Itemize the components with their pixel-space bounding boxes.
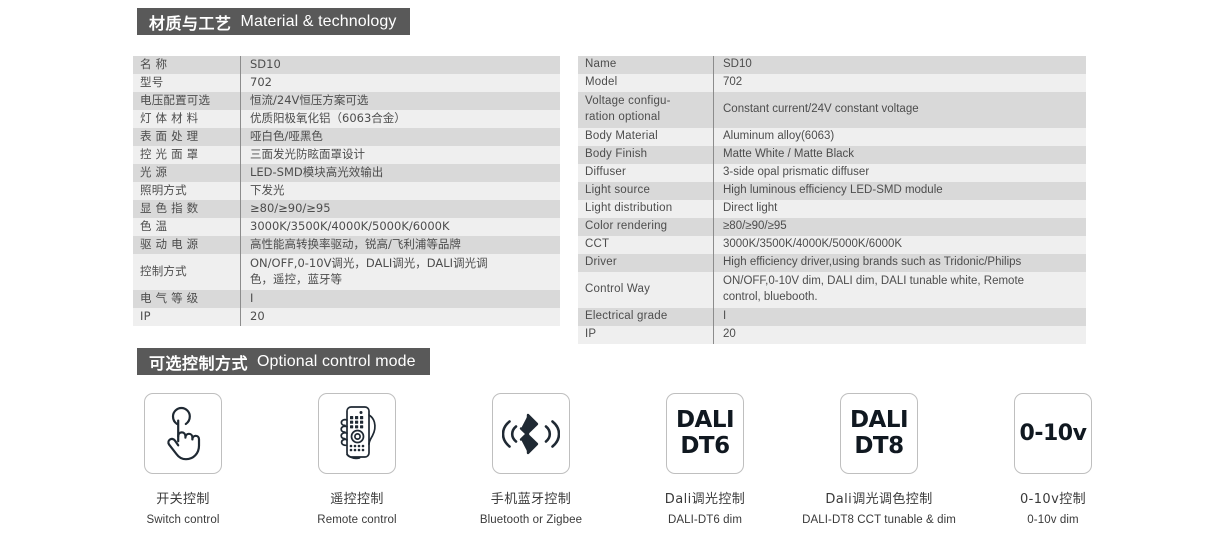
table-row: Model702: [578, 74, 1086, 92]
spec-value: 恒流/24V恒压方案可选: [241, 92, 561, 110]
spec-key: Control Way: [578, 272, 714, 308]
spec-value: 3000K/3500K/4000K/5000K/6000K: [241, 218, 561, 236]
spec-value: ≥80/≥90/≥95: [241, 200, 561, 218]
control-mode-card[interactable]: 手机蓝牙控制Bluetooth or Zigbee: [481, 393, 581, 529]
control-mode-label-en: DALI-DT6 dim: [605, 512, 805, 530]
table-row: 色 温3000K/3500K/4000K/5000K/6000K: [133, 218, 560, 236]
control-mode-label-cn: 开关控制: [83, 490, 283, 510]
spec-key: 显 色 指 数: [133, 200, 241, 218]
spec-key: 照明方式: [133, 182, 241, 200]
table-row: 控制方式ON/OFF,0-10V调光，DALI调光，DALI调光调 色，遥控，蓝…: [133, 254, 560, 290]
table-row: 照明方式下发光: [133, 182, 560, 200]
control-mode-card[interactable]: 0-10v0-10v控制0-10v dim: [1003, 393, 1103, 529]
spec-key: 控 光 面 罩: [133, 146, 241, 164]
table-row: DriverHigh efficiency driver,using brand…: [578, 254, 1086, 272]
spec-key: Voltage configu- ration optional: [578, 92, 714, 128]
table-row: Voltage configu- ration optionalConstant…: [578, 92, 1086, 128]
control-mode-label-en: Switch control: [83, 512, 283, 530]
spec-key: IP: [578, 326, 714, 344]
spec-value: Constant current/24V constant voltage: [714, 92, 1087, 128]
spec-key: 灯 体 材 料: [133, 110, 241, 128]
control-mode-label-cn: 0-10v控制: [953, 490, 1153, 510]
spec-value: Direct light: [714, 200, 1087, 218]
spec-value: High luminous efficiency LED-SMD module: [714, 182, 1087, 200]
table-row: IP20: [133, 308, 560, 326]
spec-key: Light source: [578, 182, 714, 200]
control-mode-label-cn: Dali调光控制: [605, 490, 805, 510]
table-row: 灯 体 材 料优质阳极氧化铝（6063合金）: [133, 110, 560, 128]
spec-key: Light distribution: [578, 200, 714, 218]
spec-value: SD10: [241, 56, 561, 74]
section-header-control-en: Optional control mode: [257, 353, 416, 371]
datasheet-page: 材质与工艺 Material & technology 名 称SD10型号702…: [0, 0, 1214, 557]
control-mode-caption: 开关控制Switch control: [83, 490, 283, 529]
table-row: 驱 动 电 源高性能高转换率驱动，锐高/飞利浦等品牌: [133, 236, 560, 254]
table-row: Light sourceHigh luminous efficiency LED…: [578, 182, 1086, 200]
table-row: 显 色 指 数≥80/≥90/≥95: [133, 200, 560, 218]
spec-key: IP: [133, 308, 241, 326]
spec-key: 电压配置可选: [133, 92, 241, 110]
control-mode-label-en: Bluetooth or Zigbee: [431, 512, 631, 530]
control-mode-label-cn: 手机蓝牙控制: [431, 490, 631, 510]
spec-value: ON/OFF,0-10V dim, DALI dim, DALI tunable…: [714, 272, 1087, 308]
zero-to-ten-volt-icon: 0-10v: [1014, 393, 1092, 474]
table-row: 电压配置可选恒流/24V恒压方案可选: [133, 92, 560, 110]
spec-value: ≥80/≥90/≥95: [714, 218, 1087, 236]
table-row: 控 光 面 罩三面发光防眩面罩设计: [133, 146, 560, 164]
spec-key: 名 称: [133, 56, 241, 74]
spec-value: Aluminum alloy(6063): [714, 128, 1087, 146]
spec-key: Driver: [578, 254, 714, 272]
spec-key: Color rendering: [578, 218, 714, 236]
control-mode-card[interactable]: 开关控制Switch control: [133, 393, 233, 529]
spec-table-chinese: 名 称SD10型号702电压配置可选恒流/24V恒压方案可选灯 体 材 料优质阳…: [133, 56, 560, 326]
control-mode-label-en: DALI-DT8 CCT tunable & dim: [779, 512, 979, 530]
table-row: 电 气 等 级I: [133, 290, 560, 308]
spec-value: ON/OFF,0-10V调光，DALI调光，DALI调光调 色，遥控，蓝牙等: [241, 254, 561, 290]
spec-value: High efficiency driver,using brands such…: [714, 254, 1087, 272]
control-mode-caption: 0-10v控制0-10v dim: [953, 490, 1153, 529]
spec-value: Matte White / Matte Black: [714, 146, 1087, 164]
table-row: Body MaterialAluminum alloy(6063): [578, 128, 1086, 146]
spec-key: Model: [578, 74, 714, 92]
bluetooth-signal-icon: [492, 393, 570, 474]
spec-key: 驱 动 电 源: [133, 236, 241, 254]
spec-key: 光 源: [133, 164, 241, 182]
spec-key: 型号: [133, 74, 241, 92]
spec-key: Body Material: [578, 128, 714, 146]
spec-value: I: [714, 308, 1087, 326]
control-mode-caption: Dali调光控制DALI-DT6 dim: [605, 490, 805, 529]
table-row: 型号702: [133, 74, 560, 92]
spec-value: SD10: [714, 56, 1087, 74]
spec-value: I: [241, 290, 561, 308]
table-row: IP20: [578, 326, 1086, 344]
control-mode-label-cn: 遥控控制: [257, 490, 457, 510]
spec-key: Diffuser: [578, 164, 714, 182]
section-header-material-en: Material & technology: [241, 13, 397, 31]
hand-touch-icon: [144, 393, 222, 474]
spec-key: 色 温: [133, 218, 241, 236]
spec-key: CCT: [578, 236, 714, 254]
table-row: 表 面 处 理哑白色/哑黑色: [133, 128, 560, 146]
control-mode-card[interactable]: DALIDT6Dali调光控制DALI-DT6 dim: [655, 393, 755, 529]
spec-key: 表 面 处 理: [133, 128, 241, 146]
table-row: Color rendering≥80/≥90/≥95: [578, 218, 1086, 236]
spec-key: 电 气 等 级: [133, 290, 241, 308]
control-mode-caption: 遥控控制Remote control: [257, 490, 457, 529]
control-mode-label-en: Remote control: [257, 512, 457, 530]
dali-dt8-icon: DALIDT8: [840, 393, 918, 474]
spec-value: 高性能高转换率驱动，锐高/飞利浦等品牌: [241, 236, 561, 254]
table-row: Diffuser3-side opal prismatic diffuser: [578, 164, 1086, 182]
spec-value: 702: [714, 74, 1087, 92]
control-mode-label-cn: Dali调光调色控制: [779, 490, 979, 510]
section-header-control-mode: 可选控制方式 Optional control mode: [133, 348, 430, 375]
spec-value: 702: [241, 74, 561, 92]
table-row: Electrical gradeI: [578, 308, 1086, 326]
table-row: NameSD10: [578, 56, 1086, 74]
spec-value: 3000K/3500K/4000K/5000K/6000K: [714, 236, 1087, 254]
spec-key: Name: [578, 56, 714, 74]
spec-value: 20: [241, 308, 561, 326]
spec-value: 20: [714, 326, 1087, 344]
remote-in-hand-icon: [318, 393, 396, 474]
table-row: Light distributionDirect light: [578, 200, 1086, 218]
spec-key: Electrical grade: [578, 308, 714, 326]
spec-key: Body Finish: [578, 146, 714, 164]
spec-key: 控制方式: [133, 254, 241, 290]
table-row: CCT3000K/3500K/4000K/5000K/6000K: [578, 236, 1086, 254]
control-mode-card[interactable]: DALIDT8Dali调光调色控制DALI-DT8 CCT tunable & …: [829, 393, 929, 529]
section-header-material-cn: 材质与工艺: [149, 10, 232, 34]
control-mode-card-list: 开关控制Switch control 遥控控制Remote control 手机…: [133, 393, 1093, 538]
spec-value: LED-SMD模块高光效输出: [241, 164, 561, 182]
control-mode-card[interactable]: 遥控控制Remote control: [307, 393, 407, 529]
spec-table-english: NameSD10Model702Voltage configu- ration …: [578, 56, 1086, 344]
spec-value: 三面发光防眩面罩设计: [241, 146, 561, 164]
table-row: Body FinishMatte White / Matte Black: [578, 146, 1086, 164]
spec-value: 优质阳极氧化铝（6063合金）: [241, 110, 561, 128]
dali-dt6-icon: DALIDT6: [666, 393, 744, 474]
section-header-material: 材质与工艺 Material & technology: [133, 8, 410, 35]
table-row: Control WayON/OFF,0-10V dim, DALI dim, D…: [578, 272, 1086, 308]
table-row: 名 称SD10: [133, 56, 560, 74]
spec-value: 哑白色/哑黑色: [241, 128, 561, 146]
control-mode-label-en: 0-10v dim: [953, 512, 1153, 530]
table-row: 光 源LED-SMD模块高光效输出: [133, 164, 560, 182]
control-mode-caption: 手机蓝牙控制Bluetooth or Zigbee: [431, 490, 631, 529]
section-header-control-cn: 可选控制方式: [149, 350, 248, 374]
spec-value: 下发光: [241, 182, 561, 200]
spec-value: 3-side opal prismatic diffuser: [714, 164, 1087, 182]
control-mode-caption: Dali调光调色控制DALI-DT8 CCT tunable & dim: [779, 490, 979, 529]
